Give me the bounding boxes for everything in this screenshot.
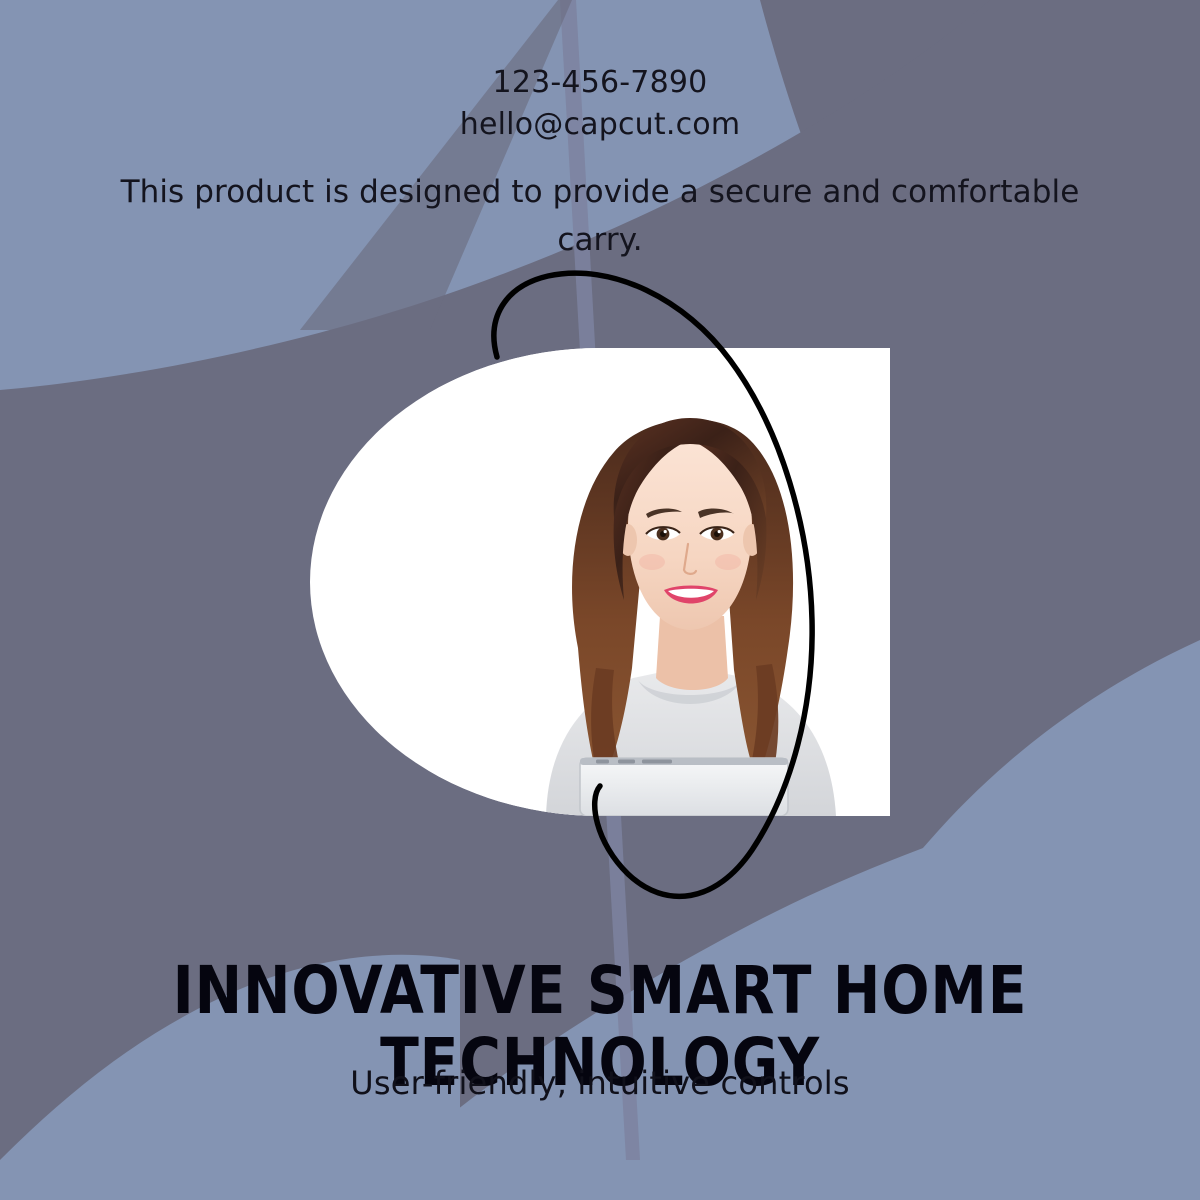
page-subtitle: User-friendly, intuitive controls bbox=[0, 1062, 1200, 1104]
portrait-illustration bbox=[428, 348, 890, 816]
laptop bbox=[580, 758, 788, 816]
email-address: hello@capcut.com bbox=[0, 104, 1200, 146]
eye-highlight-left bbox=[664, 530, 667, 533]
laptop-port-3 bbox=[642, 760, 672, 764]
eye-highlight-right bbox=[718, 530, 721, 533]
photo-card bbox=[310, 348, 890, 816]
poster-canvas: 123-456-7890 hello@capcut.com This produ… bbox=[0, 0, 1200, 1200]
photo-image bbox=[310, 348, 890, 816]
phone-number: 123-456-7890 bbox=[0, 62, 1200, 104]
laptop-port-2 bbox=[618, 760, 635, 764]
laptop-port-1 bbox=[596, 760, 609, 764]
blush-right bbox=[715, 554, 741, 570]
tagline-text: This product is designed to provide a se… bbox=[100, 168, 1100, 264]
contact-block: 123-456-7890 hello@capcut.com bbox=[0, 62, 1200, 146]
laptop-edge bbox=[580, 758, 788, 765]
blush-left bbox=[639, 554, 665, 570]
